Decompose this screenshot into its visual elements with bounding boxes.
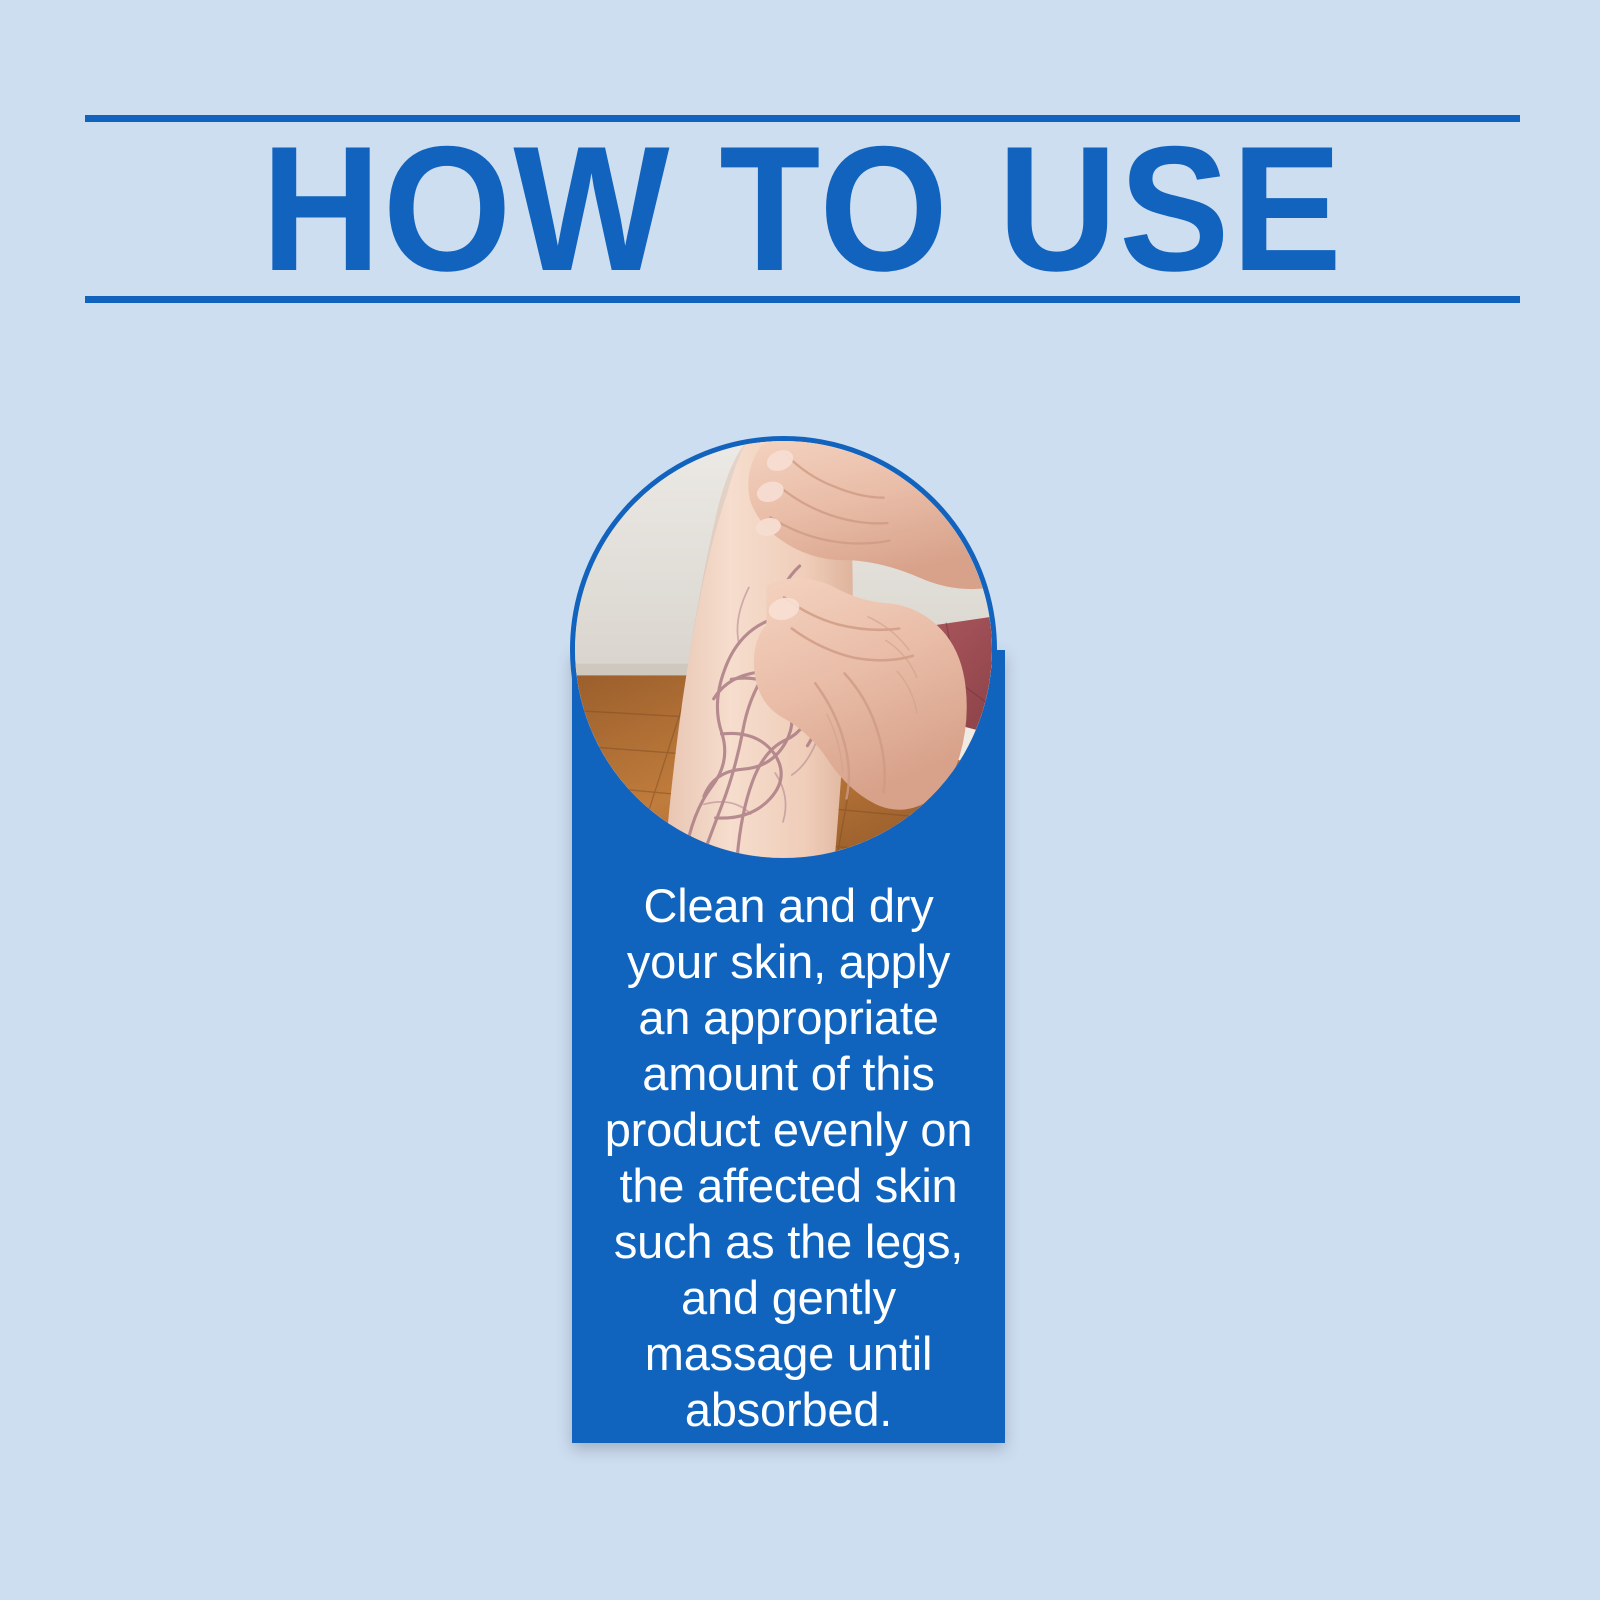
header-rule-bottom [85,296,1520,303]
page-title: HOW TO USE [135,122,1470,296]
page-header: HOW TO USE [85,115,1520,305]
instruction-text: Clean and dry your skin, apply an approp… [600,878,977,1438]
leg-massage-photo [570,436,997,863]
photo-illustration [575,441,992,858]
photo-clip [575,441,992,858]
